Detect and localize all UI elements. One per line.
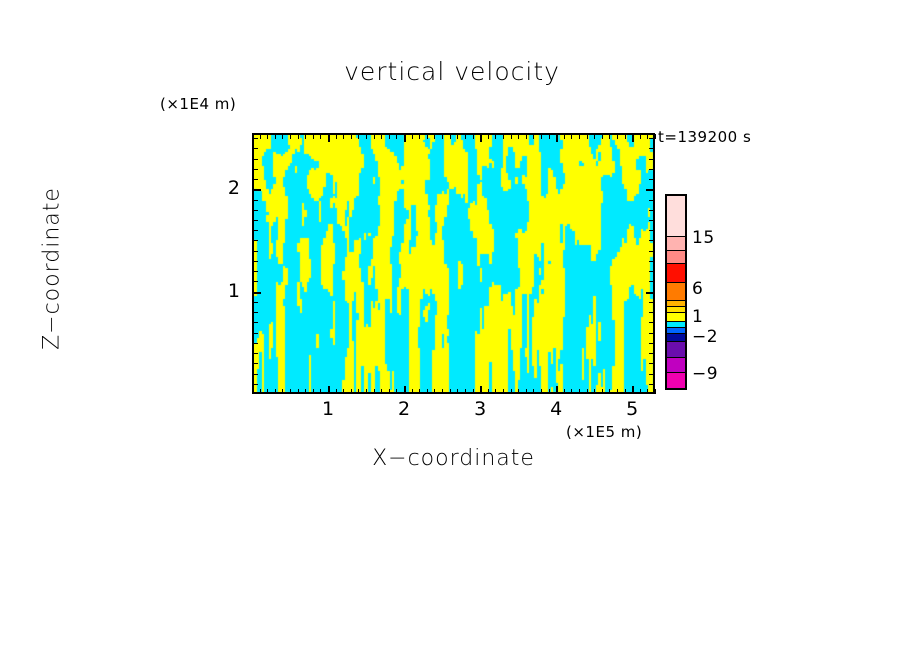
x-tick [419, 134, 420, 139]
x-tick [320, 389, 321, 394]
x-tick [450, 389, 451, 394]
x-tick [374, 389, 375, 394]
x-tick [427, 389, 428, 394]
x-tick [556, 134, 558, 142]
x-tick [587, 134, 588, 139]
x-tick [267, 389, 268, 394]
x-tick [457, 389, 458, 394]
velocity-field-heatmap [254, 135, 655, 394]
y-tick [649, 363, 654, 364]
x-tick [260, 389, 261, 394]
y-tick [649, 271, 654, 272]
y-tick [253, 189, 261, 191]
x-tick [480, 134, 482, 142]
x-tick [396, 389, 397, 394]
y-tick [649, 200, 654, 201]
colorbar-label: 15 [692, 228, 715, 248]
x-tick [351, 134, 352, 139]
y-tick [253, 363, 258, 364]
x-tick [511, 134, 512, 139]
plot-area [252, 133, 655, 394]
x-tick [419, 389, 420, 394]
x-tick [602, 134, 603, 139]
y-tick [649, 240, 654, 241]
y-tick [646, 292, 654, 294]
x-tick [564, 134, 565, 139]
y-tick-label: 2 [216, 177, 240, 199]
x-tick [290, 134, 291, 139]
y-tick [649, 169, 654, 170]
x-tick [488, 134, 489, 139]
x-tick-label: 5 [612, 398, 652, 420]
y-tick [253, 302, 258, 303]
y-tick [253, 261, 258, 262]
x-tick [655, 389, 656, 394]
x-tick [533, 134, 534, 139]
x-tick [328, 134, 330, 142]
x-tick [571, 134, 572, 139]
y-tick [253, 220, 258, 221]
x-tick [450, 134, 451, 139]
x-axis-title: X−coordinate [252, 446, 655, 471]
x-tick [640, 134, 641, 139]
x-tick [275, 389, 276, 394]
x-tick-label: 3 [460, 398, 500, 420]
y-tick [649, 261, 654, 262]
y-tick [649, 179, 654, 180]
x-tick [564, 389, 565, 394]
x-tick [404, 386, 406, 394]
x-tick [533, 389, 534, 394]
x-tick [282, 134, 283, 139]
colorbar-band [667, 341, 685, 357]
y-tick [649, 251, 654, 252]
x-tick [290, 389, 291, 394]
x-tick [609, 134, 610, 139]
x-tick [412, 389, 413, 394]
y-tick [649, 148, 654, 149]
y-axis-unit-label: (×1E4 m) [160, 95, 236, 113]
x-tick [640, 389, 641, 394]
x-tick [374, 134, 375, 139]
colorbar-band [667, 236, 685, 250]
y-tick [649, 159, 654, 160]
y-tick [649, 384, 654, 385]
x-tick [396, 134, 397, 139]
y-tick [253, 240, 258, 241]
y-tick [649, 220, 654, 221]
x-tick [625, 134, 626, 139]
x-tick [602, 389, 603, 394]
colorbar-label: 6 [692, 279, 703, 299]
x-tick [305, 389, 306, 394]
x-tick [617, 134, 618, 139]
y-tick [649, 230, 654, 231]
y-tick [253, 374, 258, 375]
y-tick [253, 353, 258, 354]
y-tick [253, 312, 258, 313]
x-tick-label: 2 [384, 398, 424, 420]
y-tick [253, 384, 258, 385]
x-tick [526, 389, 527, 394]
colorbar-band [667, 250, 685, 264]
y-tick [253, 138, 258, 139]
y-tick [253, 179, 258, 180]
y-tick [649, 138, 654, 139]
y-tick [253, 292, 261, 294]
x-tick [571, 389, 572, 394]
colorbar-band [667, 372, 685, 388]
x-tick [358, 389, 359, 394]
x-tick [518, 389, 519, 394]
x-tick [366, 134, 367, 139]
x-tick [442, 134, 443, 139]
x-tick [366, 389, 367, 394]
x-tick [655, 134, 656, 139]
colorbar-band [667, 282, 685, 300]
x-tick [526, 134, 527, 139]
x-tick [549, 389, 550, 394]
x-tick-label: 4 [536, 398, 576, 420]
x-tick [434, 134, 435, 139]
y-tick [253, 159, 258, 160]
x-tick [320, 134, 321, 139]
x-tick [473, 134, 474, 139]
x-tick-label: 1 [308, 398, 348, 420]
x-tick [305, 134, 306, 139]
y-tick [646, 189, 654, 191]
x-tick [336, 389, 337, 394]
colorbar [665, 194, 687, 390]
x-tick [260, 134, 261, 139]
x-tick [381, 389, 382, 394]
x-tick [647, 389, 648, 394]
x-tick [404, 134, 406, 142]
y-tick [253, 230, 258, 231]
x-tick [389, 389, 390, 394]
x-tick [541, 389, 542, 394]
x-tick [465, 134, 466, 139]
colorbar-band [667, 357, 685, 372]
y-tick [649, 281, 654, 282]
x-tick [412, 134, 413, 139]
y-tick [649, 374, 654, 375]
x-tick [549, 134, 550, 139]
y-tick [253, 251, 258, 252]
x-tick [617, 389, 618, 394]
x-tick [632, 386, 634, 394]
y-tick [253, 169, 258, 170]
colorbar-band [667, 312, 685, 321]
x-tick [609, 389, 610, 394]
y-axis-title: Z−coordinate [40, 139, 65, 399]
x-tick [594, 389, 595, 394]
x-tick [473, 389, 474, 394]
y-tick-label: 1 [216, 280, 240, 302]
x-tick [298, 134, 299, 139]
colorbar-label: −2 [692, 327, 718, 347]
y-tick [253, 343, 258, 344]
colorbar-band [667, 196, 685, 236]
y-tick [253, 148, 258, 149]
y-tick [649, 333, 654, 334]
x-tick [336, 134, 337, 139]
x-tick [427, 134, 428, 139]
y-tick [649, 312, 654, 313]
colorbar-band [667, 333, 685, 341]
x-tick [495, 134, 496, 139]
x-tick [503, 134, 504, 139]
page-title: vertical velocity [0, 57, 904, 86]
x-tick [381, 134, 382, 139]
x-tick [351, 389, 352, 394]
x-tick [556, 386, 558, 394]
x-tick [632, 134, 634, 142]
y-tick [253, 200, 258, 201]
x-tick [282, 389, 283, 394]
x-tick [579, 389, 580, 394]
x-tick [579, 134, 580, 139]
x-tick [647, 134, 648, 139]
y-tick [253, 333, 258, 334]
x-tick [298, 389, 299, 394]
y-tick [253, 281, 258, 282]
x-tick [480, 386, 482, 394]
time-annotation: t=139200 s [658, 128, 751, 146]
x-tick [511, 389, 512, 394]
y-tick [649, 302, 654, 303]
x-tick [518, 134, 519, 139]
x-tick [313, 134, 314, 139]
x-tick [313, 389, 314, 394]
colorbar-label: 1 [692, 307, 703, 327]
x-tick [594, 134, 595, 139]
x-tick [488, 389, 489, 394]
y-tick [649, 210, 654, 211]
x-tick [495, 389, 496, 394]
x-tick [625, 389, 626, 394]
x-tick [275, 134, 276, 139]
x-tick [328, 386, 330, 394]
x-tick [389, 134, 390, 139]
x-tick [434, 389, 435, 394]
x-tick [541, 134, 542, 139]
x-tick [465, 389, 466, 394]
colorbar-band [667, 263, 685, 281]
x-tick [457, 134, 458, 139]
y-tick [253, 322, 258, 323]
x-axis-unit-label: (×1E5 m) [566, 423, 642, 441]
x-tick [358, 134, 359, 139]
x-tick [343, 389, 344, 394]
y-tick [253, 210, 258, 211]
x-tick [267, 134, 268, 139]
y-tick [649, 353, 654, 354]
y-tick [649, 322, 654, 323]
x-tick [587, 389, 588, 394]
x-tick [343, 134, 344, 139]
y-tick [649, 343, 654, 344]
x-tick [503, 389, 504, 394]
colorbar-label: −9 [692, 364, 718, 384]
y-tick [253, 271, 258, 272]
x-tick [442, 389, 443, 394]
